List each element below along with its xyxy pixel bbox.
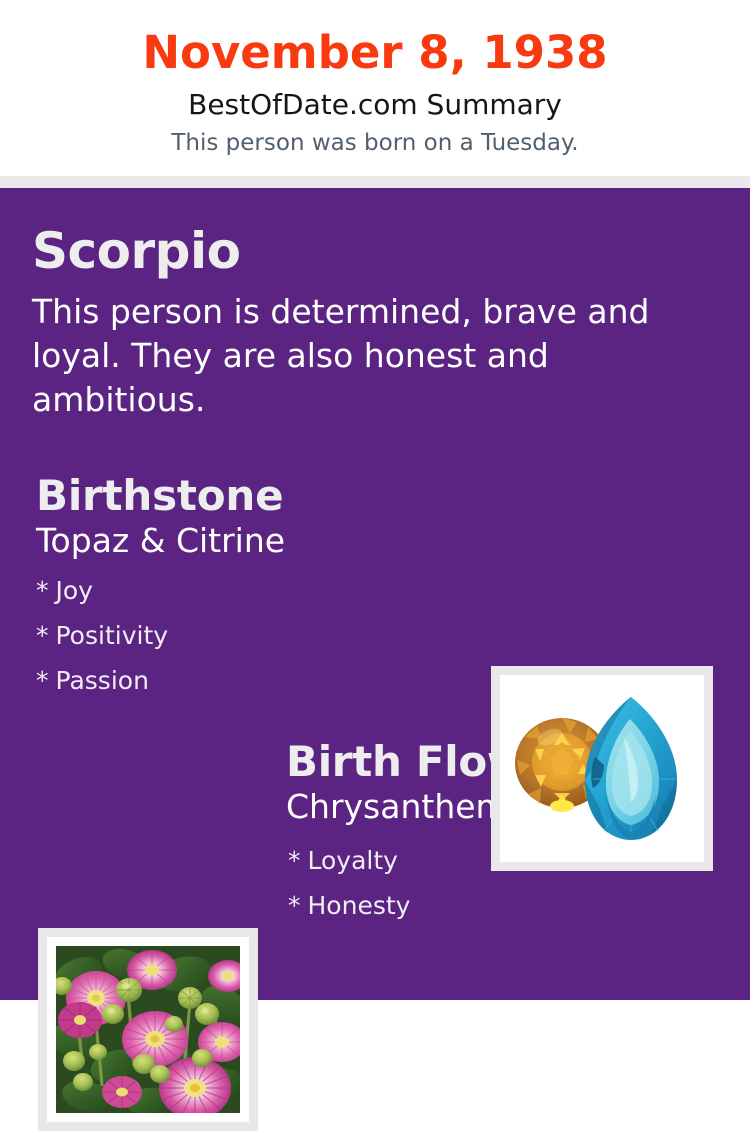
list-item: *Positivity xyxy=(36,613,466,658)
list-item: *Honesty xyxy=(286,883,706,928)
list-item-label: Positivity xyxy=(56,621,169,650)
birthstone-image-card xyxy=(491,666,713,871)
birthstone-title: Birthstone xyxy=(36,471,466,521)
birth-weekday-line: This person was born on a Tuesday. xyxy=(0,129,750,158)
summary-card: November 8, 1938 BestOfDate.com Summary … xyxy=(0,0,750,1000)
bullet-asterisk-icon: * xyxy=(288,846,301,875)
birthflower-image-card xyxy=(38,928,258,1131)
birthflower-image-frame xyxy=(47,937,249,1122)
header-divider xyxy=(0,176,750,188)
birthstone-section: Birthstone Topaz & Citrine *Joy *Positiv… xyxy=(36,471,466,703)
bullet-asterisk-icon: * xyxy=(36,621,49,650)
blue-topaz-gem xyxy=(585,697,677,840)
list-item: *Joy xyxy=(36,568,466,613)
bullet-asterisk-icon: * xyxy=(36,576,49,605)
bullet-asterisk-icon: * xyxy=(36,666,49,695)
chrysanthemum-illustration xyxy=(56,946,240,1113)
birthflower-photo xyxy=(56,946,240,1113)
list-item: *Passion xyxy=(36,658,466,703)
birthstone-image-frame xyxy=(500,675,704,862)
content-panel: Scorpio This person is determined, brave… xyxy=(0,188,750,1000)
zodiac-description: This person is determined, brave and loy… xyxy=(32,290,698,422)
birthstone-name: Topaz & Citrine xyxy=(36,520,466,562)
birthstone-photo xyxy=(500,675,704,862)
gems-illustration xyxy=(500,675,704,862)
bullet-asterisk-icon: * xyxy=(288,891,301,920)
site-summary-label: BestOfDate.com Summary xyxy=(0,88,750,122)
header: November 8, 1938 BestOfDate.com Summary … xyxy=(0,0,750,176)
list-item-label: Joy xyxy=(56,576,93,605)
page-title: November 8, 1938 xyxy=(0,25,750,81)
birthstone-trait-list: *Joy *Positivity *Passion xyxy=(36,568,466,703)
list-item-label: Passion xyxy=(56,666,149,695)
list-item-label: Loyalty xyxy=(308,846,398,875)
zodiac-sign-title: Scorpio xyxy=(32,222,240,280)
list-item-label: Honesty xyxy=(308,891,411,920)
